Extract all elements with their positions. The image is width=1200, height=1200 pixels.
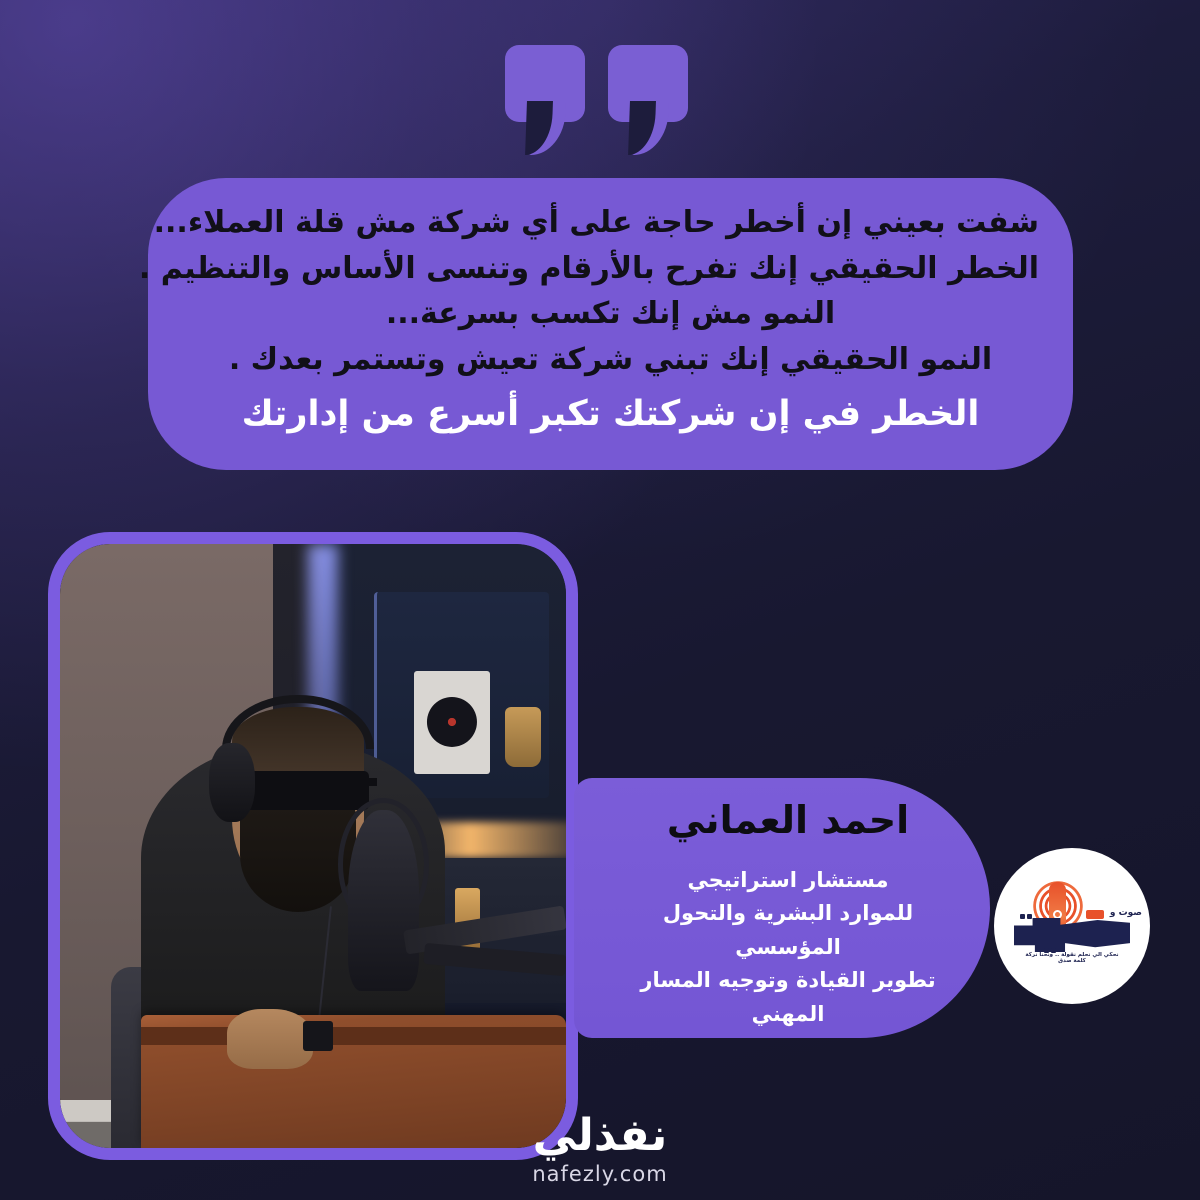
quote-line-4: النمو الحقيقي إنك تبني شركة تعيش وتستمر … [182,337,1039,383]
quote-line-3: النمو مش إنك تكسب بسرعة... [182,291,1039,337]
speaker-info-card: احمد العماني مستشار استراتيجي للموارد ال… [574,778,990,1038]
speaker-role-line-3: تطوير القيادة وتوجيه المسار المهني [620,964,956,1031]
watermark: نفذلي nafezly.com [0,1114,1200,1186]
quote-emphasis-line: الخطر في إن شركتك تكبر أسرع من إدارتك [182,382,1039,441]
speaker-role-line-1: مستشار استراتيجي [620,864,956,898]
poster-canvas: شفت بعيني إن أخطر حاجة على أي شركة مش قل… [0,0,1200,1200]
watermark-domain: nafezly.com [0,1162,1200,1186]
watermark-arabic: نفذلي [0,1114,1200,1158]
quote-card: شفت بعيني إن أخطر حاجة على أي شركة مش قل… [148,178,1073,470]
double-quote-icon [505,45,695,170]
quote-line-2: الخطر الحقيقي إنك تفرح بالأرقام وتنسى ال… [182,246,1039,292]
quote-glyph-left [505,45,585,145]
brand-logo: صوت و نحكي الي نحلم نقولة .. ونحنا نركة … [994,848,1150,1004]
speaker-photo-frame [48,532,578,1160]
brand-badge [1086,910,1104,919]
brand-prefix: صوت و [1110,908,1142,918]
quote-line-1: شفت بعيني إن أخطر حاجة على أي شركة مش قل… [182,200,1039,246]
speaker-photo [60,544,566,1148]
speaker-role-line-2: للموارد البشرية والتحول المؤسسي [620,897,956,964]
speaker-name: احمد العماني [620,798,956,844]
brand-tagline: نحكي الي نحلم نقولة .. ونحنا نركة كلمة ص… [1022,952,1122,964]
quote-glyph-right [608,45,688,145]
